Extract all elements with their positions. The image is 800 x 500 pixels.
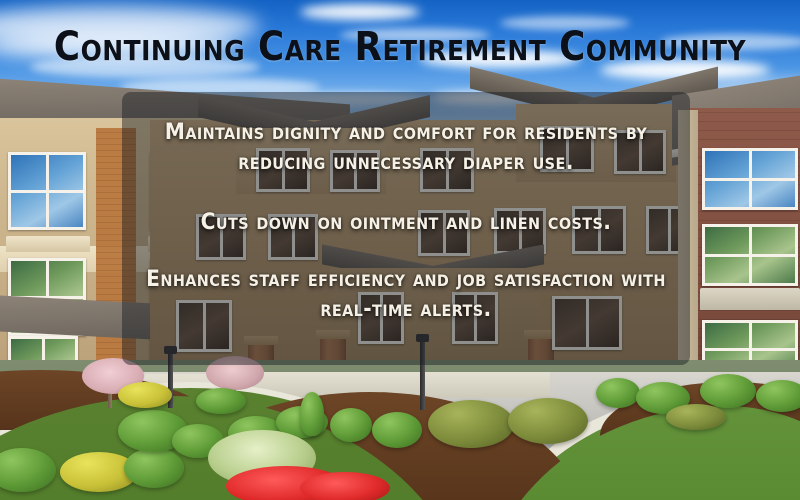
shrub [756, 380, 800, 412]
slide-canvas: Continuing Care Retirement Community Mai… [0, 0, 800, 500]
bullet-text-3: Enhances staff efficiency and job satisf… [132, 264, 680, 324]
shrub [196, 388, 246, 414]
page-title: Continuing Care Retirement Community [4, 24, 796, 70]
shrub [428, 400, 514, 448]
shrub [118, 382, 172, 408]
window [8, 152, 86, 230]
bullet-text-1: Maintains dignity and comfort for reside… [132, 117, 680, 177]
topiary [300, 392, 324, 436]
shrub [666, 404, 726, 430]
shrub [508, 398, 588, 444]
shrub [700, 374, 756, 408]
bullet-text-2: Cuts down on ointment and linen costs. [132, 207, 680, 237]
window [702, 224, 798, 286]
red-flower-bed [300, 472, 390, 500]
window [702, 148, 798, 210]
shrub [124, 448, 184, 488]
shrub [372, 412, 422, 448]
shrub [330, 408, 372, 442]
shrub [596, 378, 640, 408]
